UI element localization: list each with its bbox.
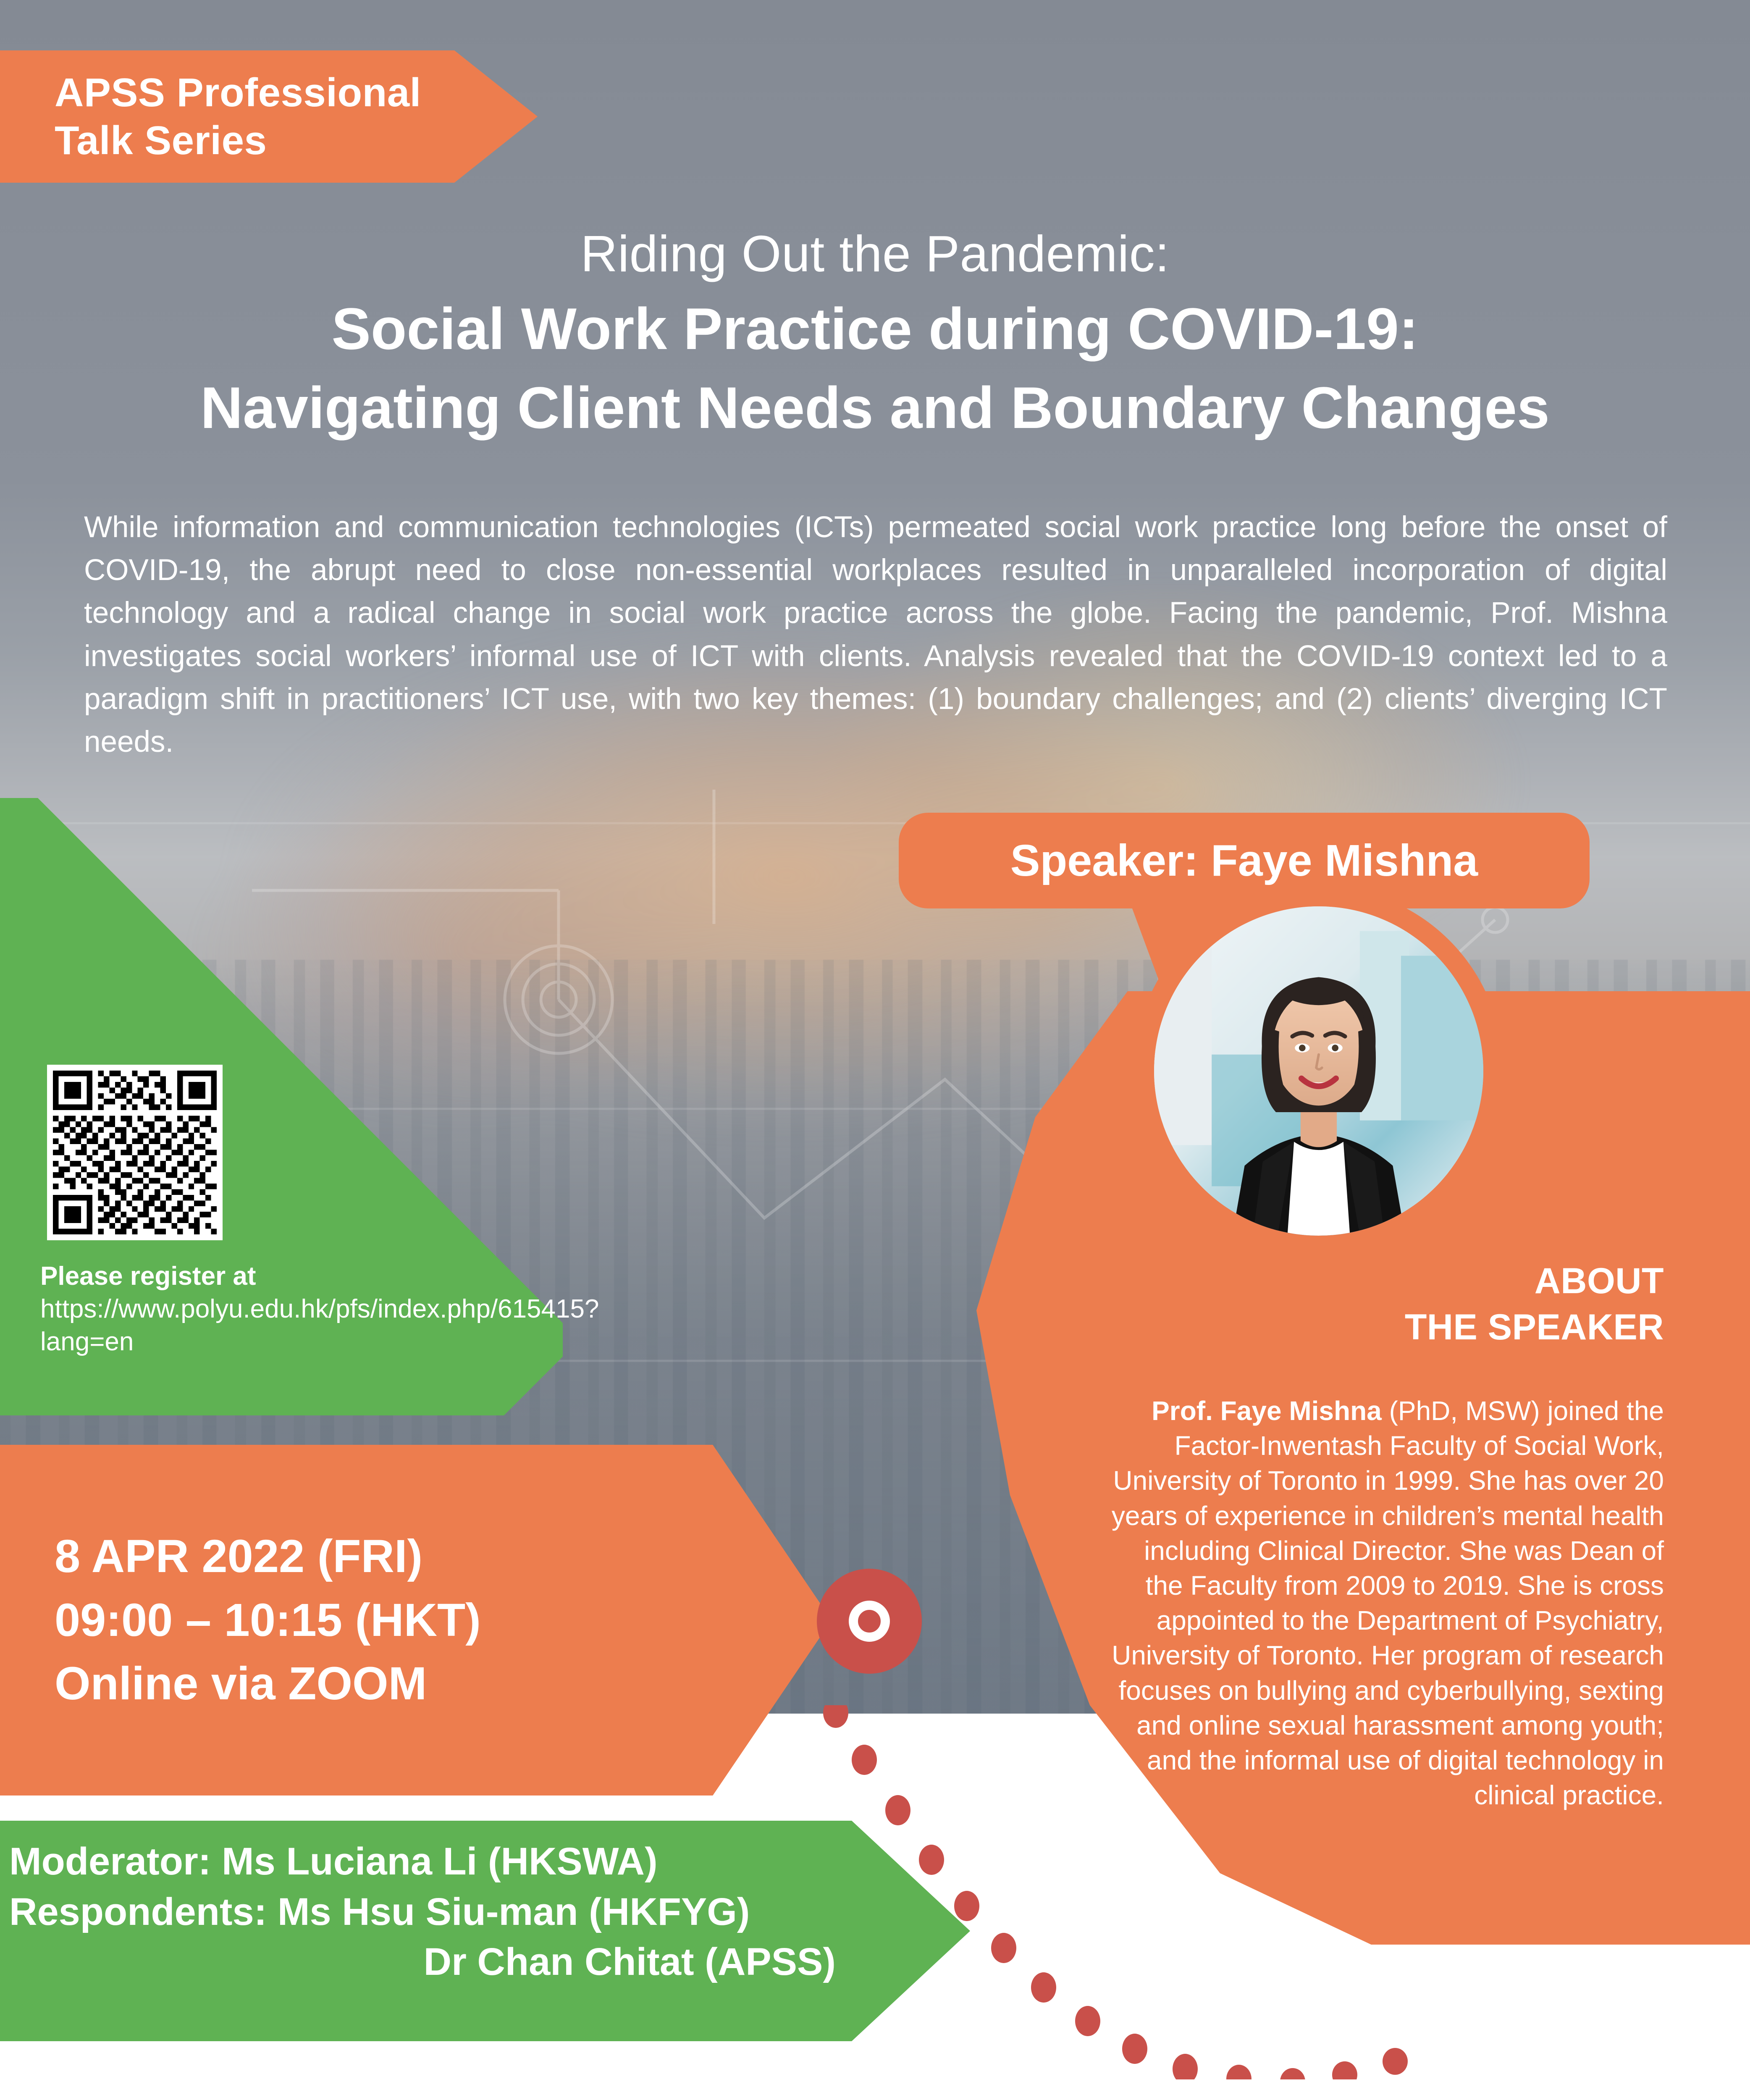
logo-hkfyg: HKFYG 香港青年協會 the hongkong federation of …	[1264, 2098, 1558, 2100]
red-ring-inner	[849, 1601, 890, 1642]
registration-qr-code[interactable]	[47, 1065, 223, 1240]
footer-logos: 85th THE HONG KONG POLYTECHNIC UNIVERSIT…	[0, 2079, 1750, 2100]
registration-lead: Please register at	[40, 1260, 460, 1293]
event-details-block: 8 APR 2022 (FRI) 09:00 – 10:15 (HKT) Onl…	[0, 1445, 832, 1795]
header-tag-label: APSS Professional Talk Series	[0, 69, 421, 164]
red-ring-decoration	[817, 1569, 922, 1674]
respondents-line-2: Dr Chan Chitat (APSS)	[9, 1937, 970, 1987]
speaker-banner: Speaker: Faye Mishna	[899, 813, 1590, 908]
speaker-bio: Prof. Faye Mishna (PhD, MSW) joined the …	[1110, 1394, 1664, 1813]
moderator-line: Moderator: Ms Luciana Li (HKSWA)	[9, 1837, 970, 1887]
registration-panel: Please register at https://www.polyu.edu…	[0, 798, 563, 1415]
logo-one-stop-shop: one stop shop by APSS PolyU	[760, 2098, 900, 2100]
panel-block: Moderator: Ms Luciana Li (HKSWA) Respond…	[0, 1821, 970, 2041]
abstract-text: While information and communication tech…	[84, 506, 1667, 764]
title-eyebrow: Riding Out the Pandemic:	[0, 223, 1750, 285]
speaker-banner-label: Speaker: Faye Mishna	[1010, 835, 1478, 886]
respondents-line-1: Respondents: Ms Hsu Siu-man (HKFYG)	[9, 1887, 970, 1937]
logo-polyu: 85th THE HONG KONG POLYTECHNIC UNIVERSIT…	[46, 2098, 378, 2100]
speaker-bio-body: (PhD, MSW) joined the Factor-Inwentash F…	[1112, 1396, 1664, 1810]
speaker-portrait	[1154, 906, 1483, 1236]
title-block: Riding Out the Pandemic: Social Work Pra…	[0, 223, 1750, 443]
event-date: 8 APR 2022 (FRI)	[55, 1525, 832, 1588]
event-poster: APSS Professional Talk Series Riding Out…	[0, 0, 1750, 2100]
event-time: 09:00 – 10:15 (HKT)	[55, 1588, 832, 1652]
title-line-1: Social Work Practice during COVID-19:	[0, 294, 1750, 364]
registration-caption: Please register at https://www.polyu.edu…	[40, 1260, 460, 1358]
about-speaker-heading: ABOUT THE SPEAKER	[1118, 1258, 1664, 1350]
about-heading-line-2: THE SPEAKER	[1118, 1304, 1664, 1350]
event-venue: Online via ZOOM	[55, 1652, 832, 1716]
speaker-bio-name: Prof. Faye Mishna	[1152, 1396, 1382, 1426]
title-line-2: Navigating Client Needs and Boundary Cha…	[0, 373, 1750, 443]
about-heading-line-1: ABOUT	[1118, 1258, 1664, 1304]
registration-url[interactable]: https://www.polyu.edu.hk/pfs/index.php/6…	[40, 1293, 460, 1358]
logo-apss: 應用社會科學系 Department of Applied Social Sci…	[422, 2098, 714, 2100]
logo-hkswa: 香港社會工作人員協會 Hong Kong Social Workers Asso…	[943, 2098, 1224, 2100]
header-tag: APSS Professional Talk Series	[0, 50, 538, 183]
